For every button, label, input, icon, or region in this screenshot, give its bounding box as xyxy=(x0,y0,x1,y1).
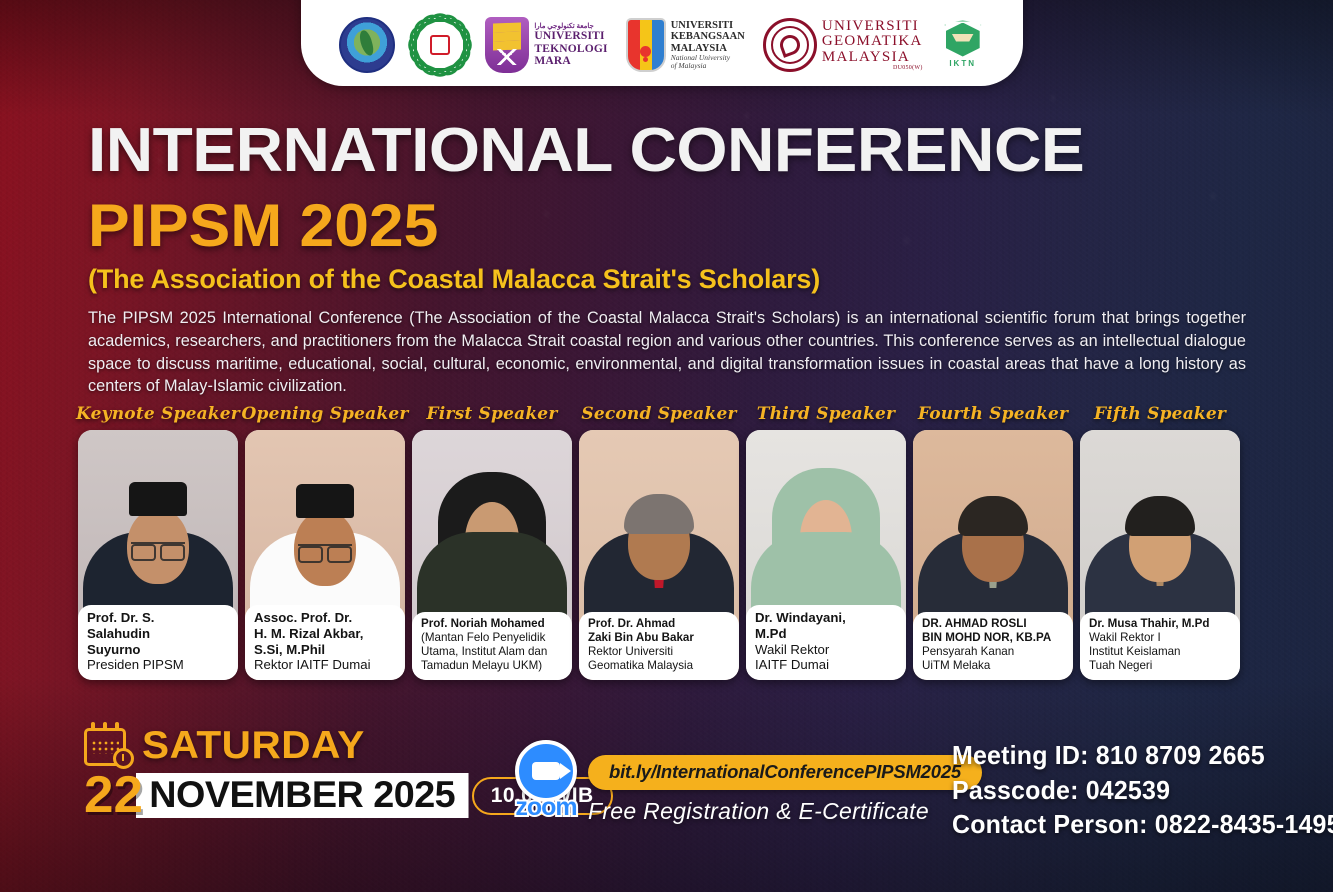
speaker-name-block: Dr. Musa Thahir, M.Pd Wakil Rektor I Ins… xyxy=(1080,612,1240,680)
speaker-role-label: Fourth Speaker xyxy=(918,404,1068,430)
muhammadiyah-logo xyxy=(413,14,467,76)
ugm-line-1: UNIVERSITI xyxy=(822,19,923,34)
speaker-photo-card: Dr. Musa Thahir, M.Pd Wakil Rektor I Ins… xyxy=(1080,430,1240,680)
speaker-name-line-1: Prof. Dr. Ahmad xyxy=(588,617,732,631)
ukm-logo: UNIVERSITI KEBANGSAAN MALAYSIA National … xyxy=(626,14,745,76)
speaker-affiliation-line-1: Rektor Universiti xyxy=(588,645,732,659)
speaker-affiliation-line-1: Wakil Rektor I xyxy=(1089,631,1233,645)
speaker-name-block: Prof. Noriah Mohamed (Mantan Felo Penyel… xyxy=(412,612,572,680)
speaker-affiliation-line-2: Geomatika Malaysia xyxy=(588,659,732,673)
speaker-name-line-2: H. M. Rizal Akbar, xyxy=(254,626,398,642)
speaker-card-keynote: Keynote Speaker Prof. Dr. S. Salahudin S… xyxy=(78,404,238,700)
speaker-role-label: First Speaker xyxy=(427,404,558,430)
speaker-affiliation-line-3: Tuah Negeri xyxy=(1089,659,1233,673)
ukm-logo-text: UNIVERSITI KEBANGSAAN MALAYSIA National … xyxy=(671,20,745,70)
ukm-line-2: KEBANGSAAN xyxy=(671,31,745,42)
ukm-line-1: UNIVERSITI xyxy=(671,20,745,31)
speaker-card-fifth: Fifth Speaker Dr. Musa Thahir, M.Pd Waki… xyxy=(1080,404,1240,700)
speaker-affiliation-line-1: Wakil Rektor xyxy=(755,642,899,658)
speaker-name-line-1: Assoc. Prof. Dr. xyxy=(254,610,398,626)
meeting-info-block: Meeting ID: 810 8709 2665 Passcode: 0425… xyxy=(952,738,1333,842)
speaker-card-fourth: Fourth Speaker DR. AHMAD ROSLI BIN MOHD … xyxy=(913,404,1073,700)
uitm-line-1: UNIVERSITI xyxy=(534,30,607,42)
page-title: INTERNATIONAL CONFERENCE xyxy=(88,120,1084,182)
speaker-name-block: Assoc. Prof. Dr. H. M. Rizal Akbar, S.Si… xyxy=(245,605,405,680)
speaker-name-line-1: Dr. Windayani, xyxy=(755,610,899,626)
speaker-affiliation: Rektor IAITF Dumai xyxy=(254,657,398,673)
speaker-affiliation-line-2: Utama, Institut Alam dan xyxy=(421,645,565,659)
uitm-arabic-text: جامعة تكنولوجي مارا xyxy=(534,23,607,30)
speaker-name-block: Dr. Windayani, M.Pd Wakil Rektor IAITF D… xyxy=(746,605,906,680)
uitm-logo-text: جامعة تكنولوجي مارا UNIVERSITI TEKNOLOGI… xyxy=(534,23,607,67)
speaker-card-second: Second Speaker Prof. Dr. Ahmad Zaki Bin … xyxy=(579,404,739,700)
speaker-name-line-1: Prof. Dr. S. xyxy=(87,610,231,626)
speaker-name-line-2: Zaki Bin Abu Bakar xyxy=(588,631,732,645)
speaker-affiliation-line-2: IAITF Dumai xyxy=(755,657,899,673)
conference-subtitle: PIPSM 2025 xyxy=(88,196,438,256)
speaker-affiliation-line-3: Tamadun Melayu UKM) xyxy=(421,659,565,673)
zoom-wordmark: zoom xyxy=(515,795,576,820)
speaker-photo-card: DR. AHMAD ROSLI BIN MOHD NOR, KB.PA Pens… xyxy=(913,430,1073,680)
speaker-name-line-3: S.Si, M.Phil xyxy=(254,642,398,658)
speaker-photo-card: Dr. Windayani, M.Pd Wakil Rektor IAITF D… xyxy=(746,430,906,680)
speaker-role-label: Fifth Speaker xyxy=(1094,404,1226,430)
speaker-affiliation-line-2: UiTM Melaka xyxy=(922,659,1066,673)
speakers-row: Keynote Speaker Prof. Dr. S. Salahudin S… xyxy=(78,404,1258,700)
meeting-contact: Contact Person: 0822-8435-1495 xyxy=(952,807,1333,842)
speaker-affiliation: Presiden PIPSM xyxy=(87,657,231,673)
ugm-line-3: MALAYSIA xyxy=(822,50,923,65)
event-month-year: NOVEMBER 2025 xyxy=(136,773,468,818)
speaker-role-label: Opening Speaker xyxy=(241,404,408,430)
speaker-name-line-2: BIN MOHD NOR, KB.PA xyxy=(922,631,1066,645)
meeting-passcode: Passcode: 042539 xyxy=(952,773,1333,808)
speaker-name-block: Prof. Dr. Ahmad Zaki Bin Abu Bakar Rekto… xyxy=(579,612,739,680)
conference-tagline: (The Association of the Coastal Malacca … xyxy=(88,266,820,293)
muhammadiyah-flower-icon xyxy=(413,18,467,72)
event-day-name: SATURDAY xyxy=(142,726,365,765)
uitm-logo: جامعة تكنولوجي مارا UNIVERSITI TEKNOLOGI… xyxy=(485,14,607,76)
conference-poster: جامعة تكنولوجي مارا UNIVERSITI TEKNOLOGI… xyxy=(0,0,1333,892)
speaker-affiliation-line-2: Institut Keislaman xyxy=(1089,645,1233,659)
pipsm-seal-icon xyxy=(339,17,395,73)
ugm-seal-icon xyxy=(763,18,817,72)
speaker-affiliation-line-1: (Mantan Felo Penyelidik xyxy=(421,631,565,645)
university-logo-bar: جامعة تكنولوجي مارا UNIVERSITI TEKNOLOGI… xyxy=(301,0,1023,86)
speaker-photo-card: Prof. Noriah Mohamed (Mantan Felo Penyel… xyxy=(412,430,572,680)
uitm-shield-icon xyxy=(485,17,529,73)
speaker-name-block: DR. AHMAD ROSLI BIN MOHD NOR, KB.PA Pens… xyxy=(913,612,1073,680)
speaker-name-line-1: Dr. Musa Thahir, M.Pd xyxy=(1089,617,1233,631)
calendar-clock-icon xyxy=(84,722,132,768)
uitm-line-2: TEKNOLOGI xyxy=(534,43,607,55)
speaker-role-label: Second Speaker xyxy=(581,404,736,430)
ugm-code: DU050(W) xyxy=(822,65,923,71)
event-day-number: 22 xyxy=(84,772,143,820)
iktn-logo: IKTN xyxy=(941,14,985,76)
registration-note: Free Registration & E-Certificate xyxy=(588,798,982,825)
ukm-shield-icon xyxy=(626,18,666,72)
speaker-name-line-3: Suyurno xyxy=(87,642,231,658)
ugm-logo-text: UNIVERSITI GEOMATIKA MALAYSIA DU050(W) xyxy=(822,19,923,71)
iktn-label: IKTN xyxy=(949,59,976,68)
speaker-affiliation-line-1: Pensyarah Kanan xyxy=(922,645,1066,659)
speaker-photo-card: Prof. Dr. S. Salahudin Suyurno Presiden … xyxy=(78,430,238,680)
ugm-line-2: GEOMATIKA xyxy=(822,34,923,49)
registration-block: bit.ly/InternationalConferencePIPSM2025 … xyxy=(588,755,982,825)
conference-description: The PIPSM 2025 International Conference … xyxy=(88,307,1246,398)
ukm-sub-2: of Malaysia xyxy=(671,62,745,70)
zoom-logo: zoom xyxy=(503,740,589,820)
speaker-card-first: First Speaker Prof. Noriah Mohamed (Mant… xyxy=(412,404,572,700)
uitm-line-3: MARA xyxy=(534,55,607,67)
iktn-graduation-cap-icon: IKTN xyxy=(941,19,985,71)
pipsm-logo xyxy=(339,14,395,76)
speaker-role-label: Keynote Speaker xyxy=(76,404,240,430)
speaker-name-line-1: DR. AHMAD ROSLI xyxy=(922,617,1066,631)
speaker-role-label: Third Speaker xyxy=(757,404,895,430)
ugm-logo: UNIVERSITI GEOMATIKA MALAYSIA DU050(W) xyxy=(763,14,923,76)
speaker-card-third: Third Speaker Dr. Windayani, M.Pd Wakil … xyxy=(746,404,906,700)
meeting-id: Meeting ID: 810 8709 2665 xyxy=(952,738,1333,773)
speaker-card-opening: Opening Speaker Assoc. Prof. Dr. H. M. R… xyxy=(245,404,405,700)
registration-link[interactable]: bit.ly/InternationalConferencePIPSM2025 xyxy=(588,755,982,790)
speaker-photo-card: Assoc. Prof. Dr. H. M. Rizal Akbar, S.Si… xyxy=(245,430,405,680)
speaker-name-line-1: Prof. Noriah Mohamed xyxy=(421,617,565,631)
speaker-photo-card: Prof. Dr. Ahmad Zaki Bin Abu Bakar Rekto… xyxy=(579,430,739,680)
speaker-name-line-2: Salahudin xyxy=(87,626,231,642)
speaker-name-line-2: M.Pd xyxy=(755,626,899,642)
speaker-name-block: Prof. Dr. S. Salahudin Suyurno Presiden … xyxy=(78,605,238,680)
